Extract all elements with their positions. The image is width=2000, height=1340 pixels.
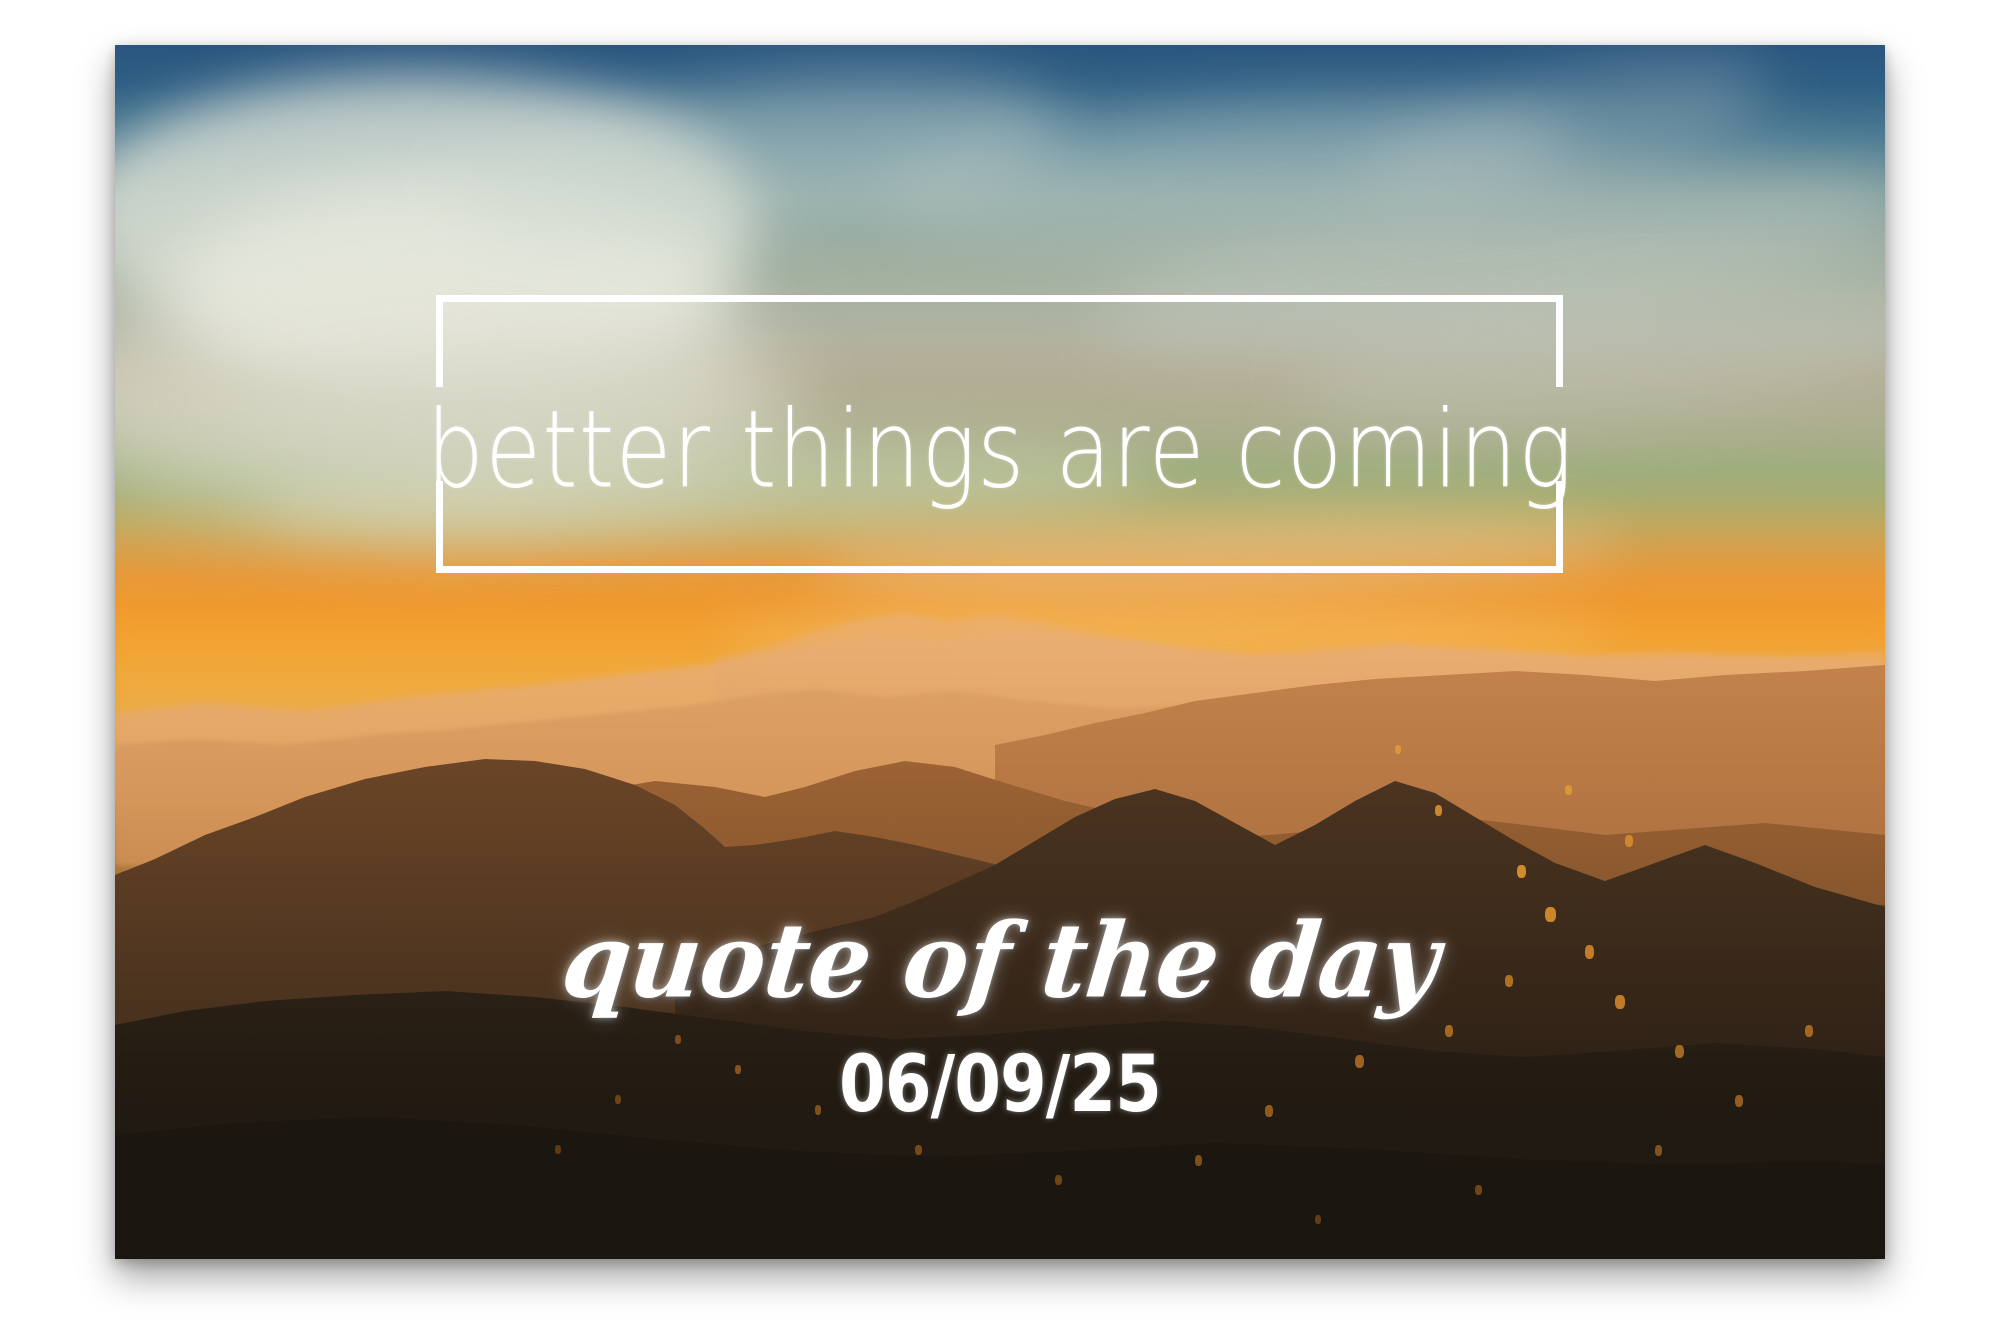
- tree-highlight: [1055, 1175, 1062, 1185]
- tree-highlight: [1195, 1155, 1202, 1166]
- frame-right-upper-edge: [1556, 295, 1563, 387]
- page-root: better things are coming quote of the da…: [0, 0, 2000, 1340]
- tree-highlight: [675, 1035, 681, 1044]
- tree-highlight: [915, 1145, 922, 1155]
- quote-card: better things are coming quote of the da…: [115, 45, 1885, 1259]
- tree-highlight: [1805, 1025, 1813, 1037]
- quote-of-the-day-label: quote of the day: [115, 911, 1885, 1014]
- tree-highlight: [1517, 865, 1526, 878]
- frame-left-upper-edge: [436, 295, 443, 387]
- tree-highlight: [1625, 835, 1633, 847]
- quote-text: better things are coming: [124, 397, 1876, 504]
- tree-highlight: [555, 1145, 561, 1154]
- tree-highlight: [1315, 1215, 1321, 1224]
- frame-bottom-edge: [436, 566, 1563, 573]
- tree-highlight: [1475, 1185, 1482, 1195]
- frame-top-edge: [436, 295, 1563, 302]
- tree-highlight: [1445, 1025, 1453, 1037]
- date-text: 06/09/25: [150, 1045, 1849, 1123]
- tree-highlight: [1655, 1145, 1662, 1156]
- tree-highlight: [1565, 785, 1572, 795]
- tree-highlight: [1435, 805, 1442, 816]
- tree-highlight: [1395, 745, 1401, 754]
